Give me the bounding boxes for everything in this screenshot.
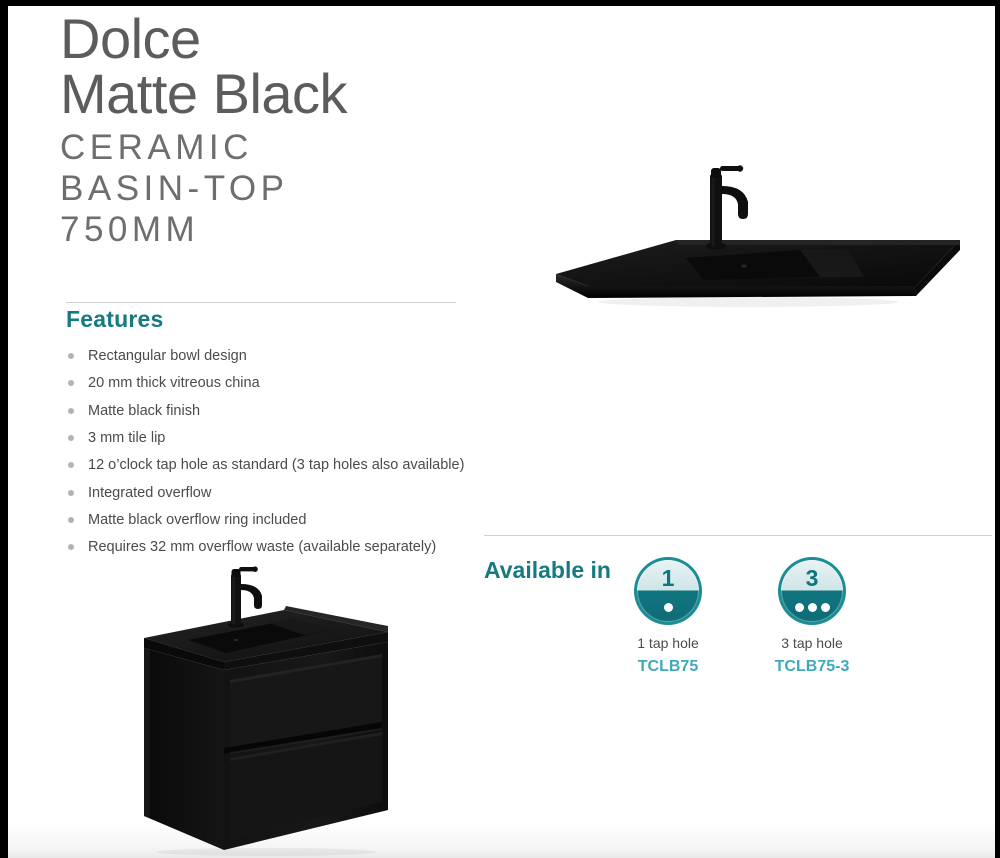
list-item: Requires 32 mm overflow waste (available… — [66, 538, 486, 557]
bullet-icon — [68, 353, 74, 359]
page-subtitle: CERAMIC BASIN-TOP 750MM — [60, 128, 460, 251]
option-caption: 1 tap hole — [620, 635, 716, 651]
list-item: Matte black overflow ring included — [66, 511, 486, 530]
feature-text: 12 o’clock tap hole as standard (3 tap h… — [88, 457, 464, 473]
list-item: 3 mm tile lip — [66, 429, 486, 448]
badge-number: 3 — [781, 561, 843, 592]
page-title: Dolce Matte Black — [60, 12, 460, 122]
feature-text: 20 mm thick vitreous china — [88, 375, 260, 391]
option-3-tap-hole[interactable]: 3 3 tap hole TCLB75-3 — [764, 557, 860, 676]
bullet-icon — [68, 435, 74, 441]
tap-hole-badge-1: 1 — [634, 557, 702, 625]
list-item: 20 mm thick vitreous china — [66, 374, 486, 393]
tap-hole-dot — [795, 603, 804, 612]
badge-face: 3 — [781, 560, 843, 622]
feature-text: 3 mm tile lip — [88, 430, 165, 446]
feature-text: Matte black finish — [88, 403, 200, 419]
feature-text: Matte black overflow ring included — [88, 512, 306, 528]
bullet-icon — [68, 490, 74, 496]
feature-text: Integrated overflow — [88, 485, 211, 501]
option-1-tap-hole[interactable]: 1 1 tap hole TCLB75 — [620, 557, 716, 676]
page-canvas: Dolce Matte Black CERAMIC BASIN-TOP 750M… — [8, 6, 995, 858]
bullet-icon — [68, 380, 74, 386]
features-list: Rectangular bowl design 20 mm thick vitr… — [66, 347, 486, 566]
vanity-unit-image — [116, 562, 416, 858]
product-code[interactable]: TCLB75-3 — [764, 658, 860, 676]
feature-text: Rectangular bowl design — [88, 348, 247, 364]
list-item: Rectangular bowl design — [66, 347, 486, 366]
feature-text: Requires 32 mm overflow waste (available… — [88, 539, 436, 555]
tap-hole-dot — [664, 603, 673, 612]
features-heading: Features — [66, 306, 163, 333]
list-item: Integrated overflow — [66, 484, 486, 503]
bullet-icon — [68, 544, 74, 550]
spec-sheet-page: Dolce Matte Black CERAMIC BASIN-TOP 750M… — [0, 0, 1000, 858]
divider-left — [66, 302, 456, 303]
badge-number: 1 — [637, 561, 699, 592]
available-in-heading: Available in — [484, 557, 611, 584]
option-caption: 3 tap hole — [764, 635, 860, 651]
tap-hole-dots-icon — [781, 591, 843, 622]
tap-hole-dot — [821, 603, 830, 612]
bullet-icon — [68, 408, 74, 414]
list-item: Matte black finish — [66, 402, 486, 421]
bullet-icon — [68, 517, 74, 523]
available-options: 1 1 tap hole TCLB75 3 — [620, 557, 860, 676]
basin-top-image — [548, 146, 968, 326]
bullet-icon — [68, 462, 74, 468]
list-item: 12 o’clock tap hole as standard (3 tap h… — [66, 456, 486, 475]
title-block: Dolce Matte Black CERAMIC BASIN-TOP 750M… — [60, 12, 460, 251]
product-code[interactable]: TCLB75 — [620, 658, 716, 676]
divider-right — [484, 535, 992, 536]
tap-hole-dots-icon — [637, 591, 699, 622]
tap-hole-badge-3: 3 — [778, 557, 846, 625]
tap-hole-dot — [808, 603, 817, 612]
badge-face: 1 — [637, 560, 699, 622]
